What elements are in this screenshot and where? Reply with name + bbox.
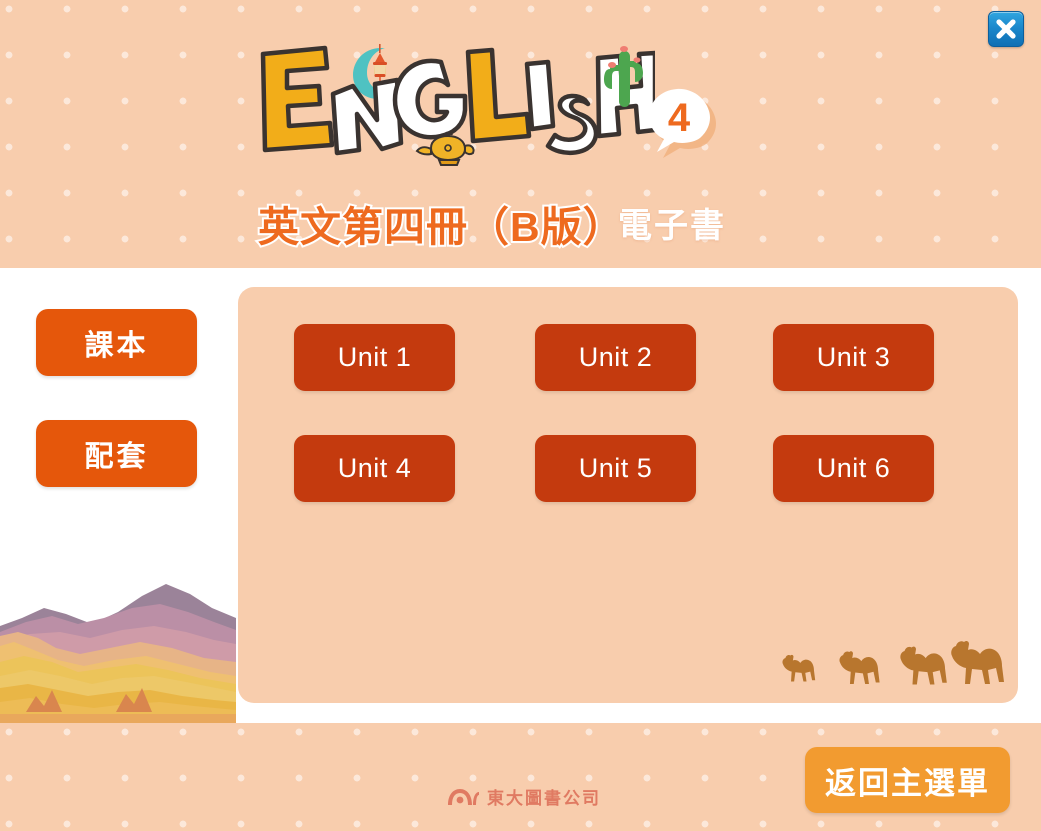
sidebar-item-supplement[interactable]: 配套 [36,420,197,487]
unit-button-5[interactable]: Unit 5 [535,435,696,502]
camel-icon [951,641,1004,684]
camel-caravan [776,631,1004,689]
volume-badge: 4 [638,78,720,160]
subtitle-ebook-label: 電子書 [618,198,726,247]
arch-logo-icon [446,786,480,806]
unit-panel: Unit 1 Unit 2 Unit 3 Unit 4 Unit 5 Unit … [238,287,1018,703]
unit-button-3[interactable]: Unit 3 [773,324,934,391]
genie-lamp-icon [415,130,477,168]
close-icon [989,12,1023,46]
publisher-logo: 東大圖書公司 [446,783,592,809]
return-to-main-menu-button[interactable]: 返回主選單 [805,747,1010,813]
close-button[interactable] [988,11,1024,47]
sidebar-item-textbook[interactable]: 課本 [36,309,197,376]
subtitle-main: 英文第四冊（B版） [258,193,625,253]
camel-icon [900,647,946,685]
desert-illustration [0,578,236,723]
header-banner: 4 英文第四冊（B版） 電子書 [0,0,1041,268]
volume-badge-number: 4 [668,96,691,140]
camel-icon [782,655,815,682]
publisher-name: 東大圖書公司 [487,784,601,809]
ebook-menu-window: 4 英文第四冊（B版） 電子書 [0,0,1041,831]
unit-button-1[interactable]: Unit 1 [294,324,455,391]
unit-button-2[interactable]: Unit 2 [535,324,696,391]
camel-icon [839,651,879,684]
unit-button-6[interactable]: Unit 6 [773,435,934,502]
content-area: 課本 配套 Unit 1 Unit 2 Unit 3 Unit 4 Unit 5… [0,268,1041,723]
unit-button-4[interactable]: Unit 4 [294,435,455,502]
